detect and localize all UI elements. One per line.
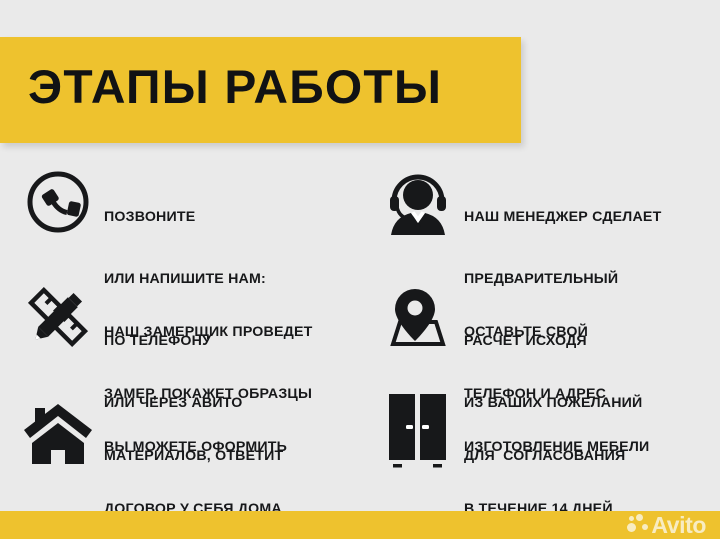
steps-grid: ПОЗВОНИТЕ ИЛИ НАПИШИТЕ НАМ: ПО ТЕЛЕФОНУ … <box>0 160 720 490</box>
map-pin-icon <box>378 275 458 359</box>
poster-canvas: ЭТАПЫ РАБОТЫ ПОЗВОНИТЕ <box>0 0 720 539</box>
avito-watermark-bar: Avito <box>0 511 720 539</box>
headset-operator-icon <box>378 160 458 244</box>
page-title: ЭТАПЫ РАБОТЫ <box>28 59 442 114</box>
title-banner: ЭТАПЫ РАБОТЫ <box>0 37 521 143</box>
step-line: ОСТАВЬТЕ СВОЙ <box>464 322 662 343</box>
step-item-1: ПОЗВОНИТЕ ИЛИ НАПИШИТЕ НАМ: ПО ТЕЛЕФОНУ … <box>0 160 360 275</box>
avito-logo: Avito <box>627 513 706 537</box>
step-line: НАШ МЕНЕДЖЕР СДЕЛАЕТ <box>464 207 661 228</box>
step-line: ВЫ МОЖЕТЕ ОФОРМИТЬ <box>104 437 287 458</box>
step-item-2: НАШ МЕНЕДЖЕР СДЕЛАЕТ ПРЕДВАРИТЕЛЬНЫЙ РАС… <box>360 160 720 275</box>
steps-row: ПОЗВОНИТЕ ИЛИ НАПИШИТЕ НАМ: ПО ТЕЛЕФОНУ … <box>0 160 720 275</box>
wardrobe-icon <box>378 390 458 474</box>
phone-in-circle-icon <box>18 160 98 244</box>
house-icon <box>18 390 98 474</box>
step-line: ИЗГОТОВЛЕНИЕ МЕБЕЛИ <box>464 437 649 458</box>
avito-wordmark: Avito <box>651 514 706 537</box>
step-item-6: ИЗГОТОВЛЕНИЕ МЕБЕЛИ В ТЕЧЕНИЕ 14 ДНЕЙ СО… <box>360 390 720 490</box>
steps-row: ВЫ МОЖЕТЕ ОФОРМИТЬ ДОГОВОР У СЕБЯ ДОМА Б… <box>0 390 720 490</box>
step-item-3: НАШ ЗАМЕРЩИК ПРОВЕДЕТ ЗАМЕР, ПОКАЖЕТ ОБР… <box>0 275 360 390</box>
steps-row: НАШ ЗАМЕРЩИК ПРОВЕДЕТ ЗАМЕР, ПОКАЖЕТ ОБР… <box>0 275 720 390</box>
step-item-4: ОСТАВЬТЕ СВОЙ ТЕЛЕФОН И АДРЕС ДЛЯ СОГЛАС… <box>360 275 720 390</box>
ruler-pencil-icon <box>18 275 98 359</box>
step-line: НАШ ЗАМЕРЩИК ПРОВЕДЕТ <box>104 322 312 343</box>
avito-dots-icon <box>627 513 649 535</box>
step-line: ПОЗВОНИТЕ <box>104 207 266 228</box>
